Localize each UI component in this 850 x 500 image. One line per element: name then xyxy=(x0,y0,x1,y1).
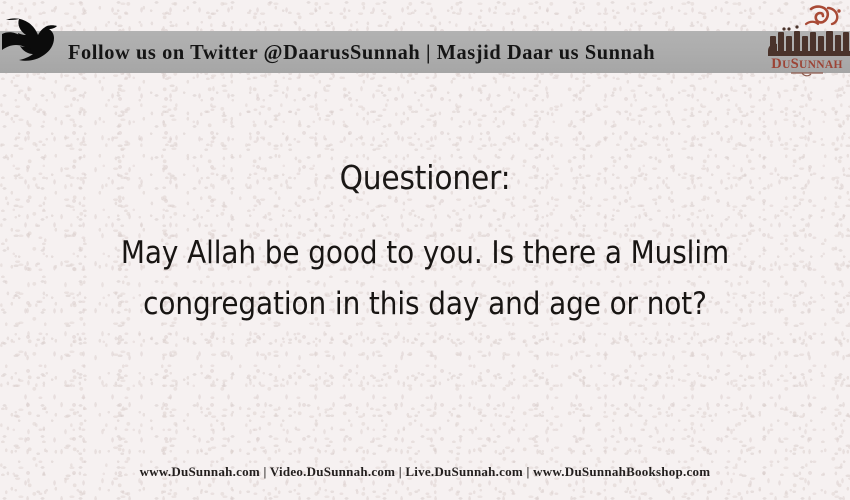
arabic-calligraphy-mark xyxy=(806,7,841,24)
banner-text: Follow us on Twitter @DaarusSunnah | Mas… xyxy=(68,31,655,73)
slide-content: Questioner: May Allah be good to you. Is… xyxy=(0,160,850,329)
question-line-2: congregation in this day and age or not? xyxy=(43,279,808,329)
dusunnah-logo: DUSUNNAH xyxy=(764,2,850,82)
question-text: May Allah be good to you. Is there a Mus… xyxy=(43,228,808,328)
speaker-label: Questioner: xyxy=(43,160,808,196)
logo-ornament xyxy=(791,73,823,76)
twitter-bird-icon xyxy=(2,14,64,70)
footer-links: www.DuSunnah.com | Video.DuSunnah.com | … xyxy=(0,464,850,480)
video-slide: Follow us on Twitter @DaarusSunnah | Mas… xyxy=(0,0,850,500)
logo-wordmark-text: DUSUNNAH xyxy=(771,56,842,72)
question-line-1: May Allah be good to you. Is there a Mus… xyxy=(43,228,808,278)
arabic-wordmark xyxy=(768,25,850,56)
